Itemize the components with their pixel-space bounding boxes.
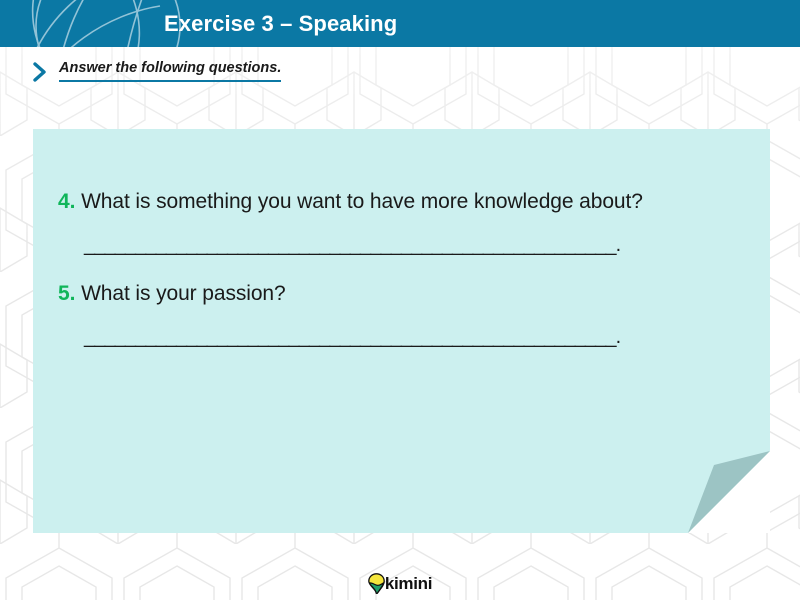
question-5-body: What is your passion? [81, 282, 286, 305]
answer-line-5[interactable]: ________________________________________… [58, 326, 748, 348]
question-item-5: 5. What is your passion? _______________… [58, 278, 748, 348]
question-5-text: 5. What is your passion? [58, 278, 748, 310]
answer-line-4[interactable]: ________________________________________… [58, 234, 748, 256]
instruction-row: Answer the following questions. [33, 60, 281, 82]
header-bar: Exercise 3 – Speaking [0, 0, 800, 47]
question-4-number: 4. [58, 190, 75, 213]
chevron-right-icon [33, 62, 47, 82]
questions-list: 4. What is something you want to have mo… [58, 186, 748, 370]
question-item-4: 4. What is something you want to have mo… [58, 186, 748, 256]
question-4-body: What is something you want to have more … [81, 190, 643, 213]
footer-brand: kimini [0, 573, 800, 594]
question-5-number: 5. [58, 282, 75, 305]
folded-corner-decoration [688, 451, 770, 533]
question-4-text: 4. What is something you want to have mo… [58, 186, 748, 218]
page-title: Exercise 3 – Speaking [164, 0, 397, 47]
brand-name: kimini [385, 575, 432, 592]
kimini-balloon-icon [368, 573, 385, 594]
instruction-text: Answer the following questions. [59, 60, 281, 82]
slide-canvas: Exercise 3 – Speaking Answer the followi… [0, 0, 800, 600]
